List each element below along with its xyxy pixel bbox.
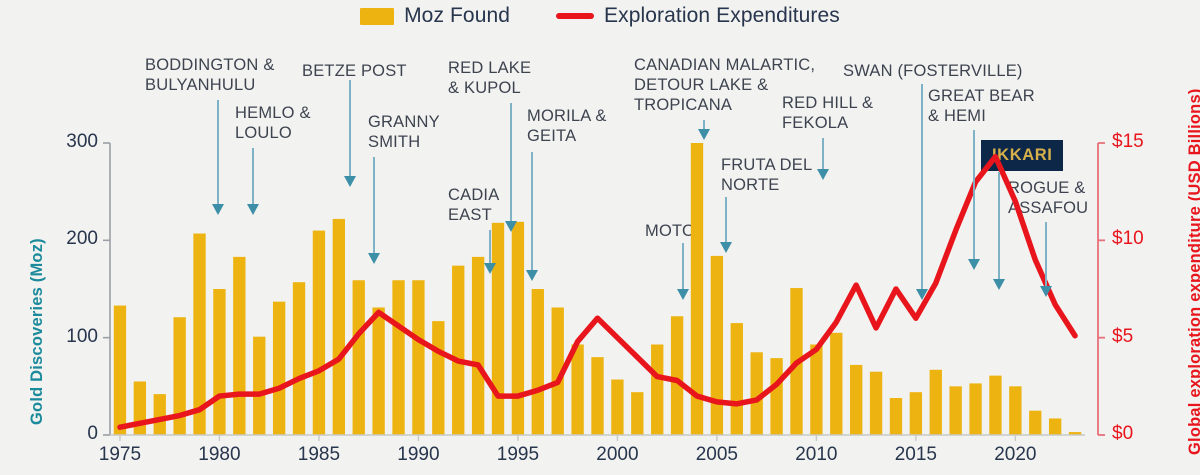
bar	[571, 344, 583, 435]
bar	[472, 257, 484, 435]
bar	[830, 333, 842, 435]
bar	[969, 383, 981, 435]
x-axis-tick-label: 1980	[198, 444, 240, 466]
legend-label-moz-found: Moz Found	[404, 4, 510, 28]
legend-label-exploration-expenditures: Exploration Expenditures	[604, 4, 840, 28]
bar	[949, 386, 961, 435]
bar	[313, 231, 325, 435]
bar	[1009, 386, 1021, 435]
bar	[631, 392, 643, 435]
x-axis-tick-label: 1985	[298, 444, 340, 466]
legend-item-moz-found: Moz Found	[360, 4, 510, 28]
bar	[213, 289, 225, 435]
bar	[432, 321, 444, 435]
y-axis-right-tick-label: $5	[1112, 326, 1133, 348]
y-axis-right-tick-label: $0	[1112, 423, 1133, 445]
y-axis-left-tick-label: 0	[87, 423, 98, 445]
bar	[512, 222, 524, 435]
bar	[671, 316, 683, 435]
y-axis-right-title: Global exploration expenditure (USD Bill…	[1186, 88, 1200, 455]
annotation-hemlo-loulo: HEMLO & LOULO	[235, 103, 311, 143]
bar	[333, 219, 345, 435]
bar	[353, 280, 365, 435]
bar	[890, 398, 902, 435]
y-axis-left-tick-label: 100	[66, 326, 98, 348]
annotation-betze-post: BETZE POST	[302, 61, 407, 81]
x-axis-tick-label: 2015	[895, 444, 937, 466]
bar	[1029, 411, 1041, 435]
x-axis-tick-label: 1990	[397, 444, 439, 466]
x-axis-tick-label: 2010	[795, 444, 837, 466]
bar	[293, 282, 305, 435]
annotation-great-bear-hemi: GREAT BEAR & HEMI	[928, 86, 1035, 126]
bar	[134, 381, 146, 435]
annotation-swan-fosterville: SWAN (FOSTERVILLE)	[843, 61, 1023, 81]
bar-swatch-icon	[360, 8, 394, 25]
y-axis-left-tick-label: 200	[66, 228, 98, 250]
bar	[611, 380, 623, 435]
bar	[412, 280, 424, 435]
y-axis-left-tick-label: 300	[66, 131, 98, 153]
bar	[233, 257, 245, 435]
bar	[591, 357, 603, 435]
gold-discoveries-chart: Moz Found Exploration Expenditures Gold …	[0, 0, 1200, 475]
bar	[910, 392, 922, 435]
x-axis-tick-label: 2005	[696, 444, 738, 466]
bar	[452, 266, 464, 435]
annotation-red-hill-fekola: RED HILL & FEKOLA	[782, 93, 873, 133]
plot-area	[110, 143, 1085, 435]
bar	[711, 256, 723, 435]
bar	[532, 289, 544, 435]
bar	[810, 344, 822, 435]
x-axis-tick-label: 1975	[99, 444, 141, 466]
x-axis-tick-label: 1995	[497, 444, 539, 466]
annotation-boddington-bulyanhulu: BODDINGTON & BULYANHULU	[145, 55, 275, 95]
bar	[372, 307, 384, 435]
x-axis-tick-label: 2020	[994, 444, 1036, 466]
bar	[273, 302, 285, 435]
bar	[253, 337, 265, 435]
bar	[651, 344, 663, 435]
y-axis-left-title: Gold Discoveries (Moz)	[28, 238, 47, 425]
bar	[492, 223, 504, 435]
y-axis-right-tick-label: $15	[1112, 131, 1144, 153]
annotation-arrow-icon	[698, 129, 710, 140]
line-swatch-icon	[556, 13, 594, 19]
bar	[870, 372, 882, 435]
bar	[930, 370, 942, 435]
bar	[770, 358, 782, 435]
bar	[154, 394, 166, 435]
annotation-morila-geita: MORILA & GEITA	[527, 106, 607, 146]
bar	[731, 323, 743, 435]
annotation-red-lake-kupol: RED LAKE & KUPOL	[448, 58, 531, 98]
chart-legend: Moz Found Exploration Expenditures	[0, 4, 1200, 28]
bar	[392, 280, 404, 435]
bar	[989, 376, 1001, 435]
bar	[1049, 418, 1061, 435]
y-axis-right-tick-label: $10	[1112, 228, 1144, 250]
bar	[1069, 432, 1081, 435]
legend-item-exploration-expenditures: Exploration Expenditures	[556, 4, 840, 28]
plot-svg	[110, 143, 1085, 435]
x-axis-tick-label: 2000	[596, 444, 638, 466]
bar	[850, 365, 862, 435]
bar	[114, 306, 126, 435]
